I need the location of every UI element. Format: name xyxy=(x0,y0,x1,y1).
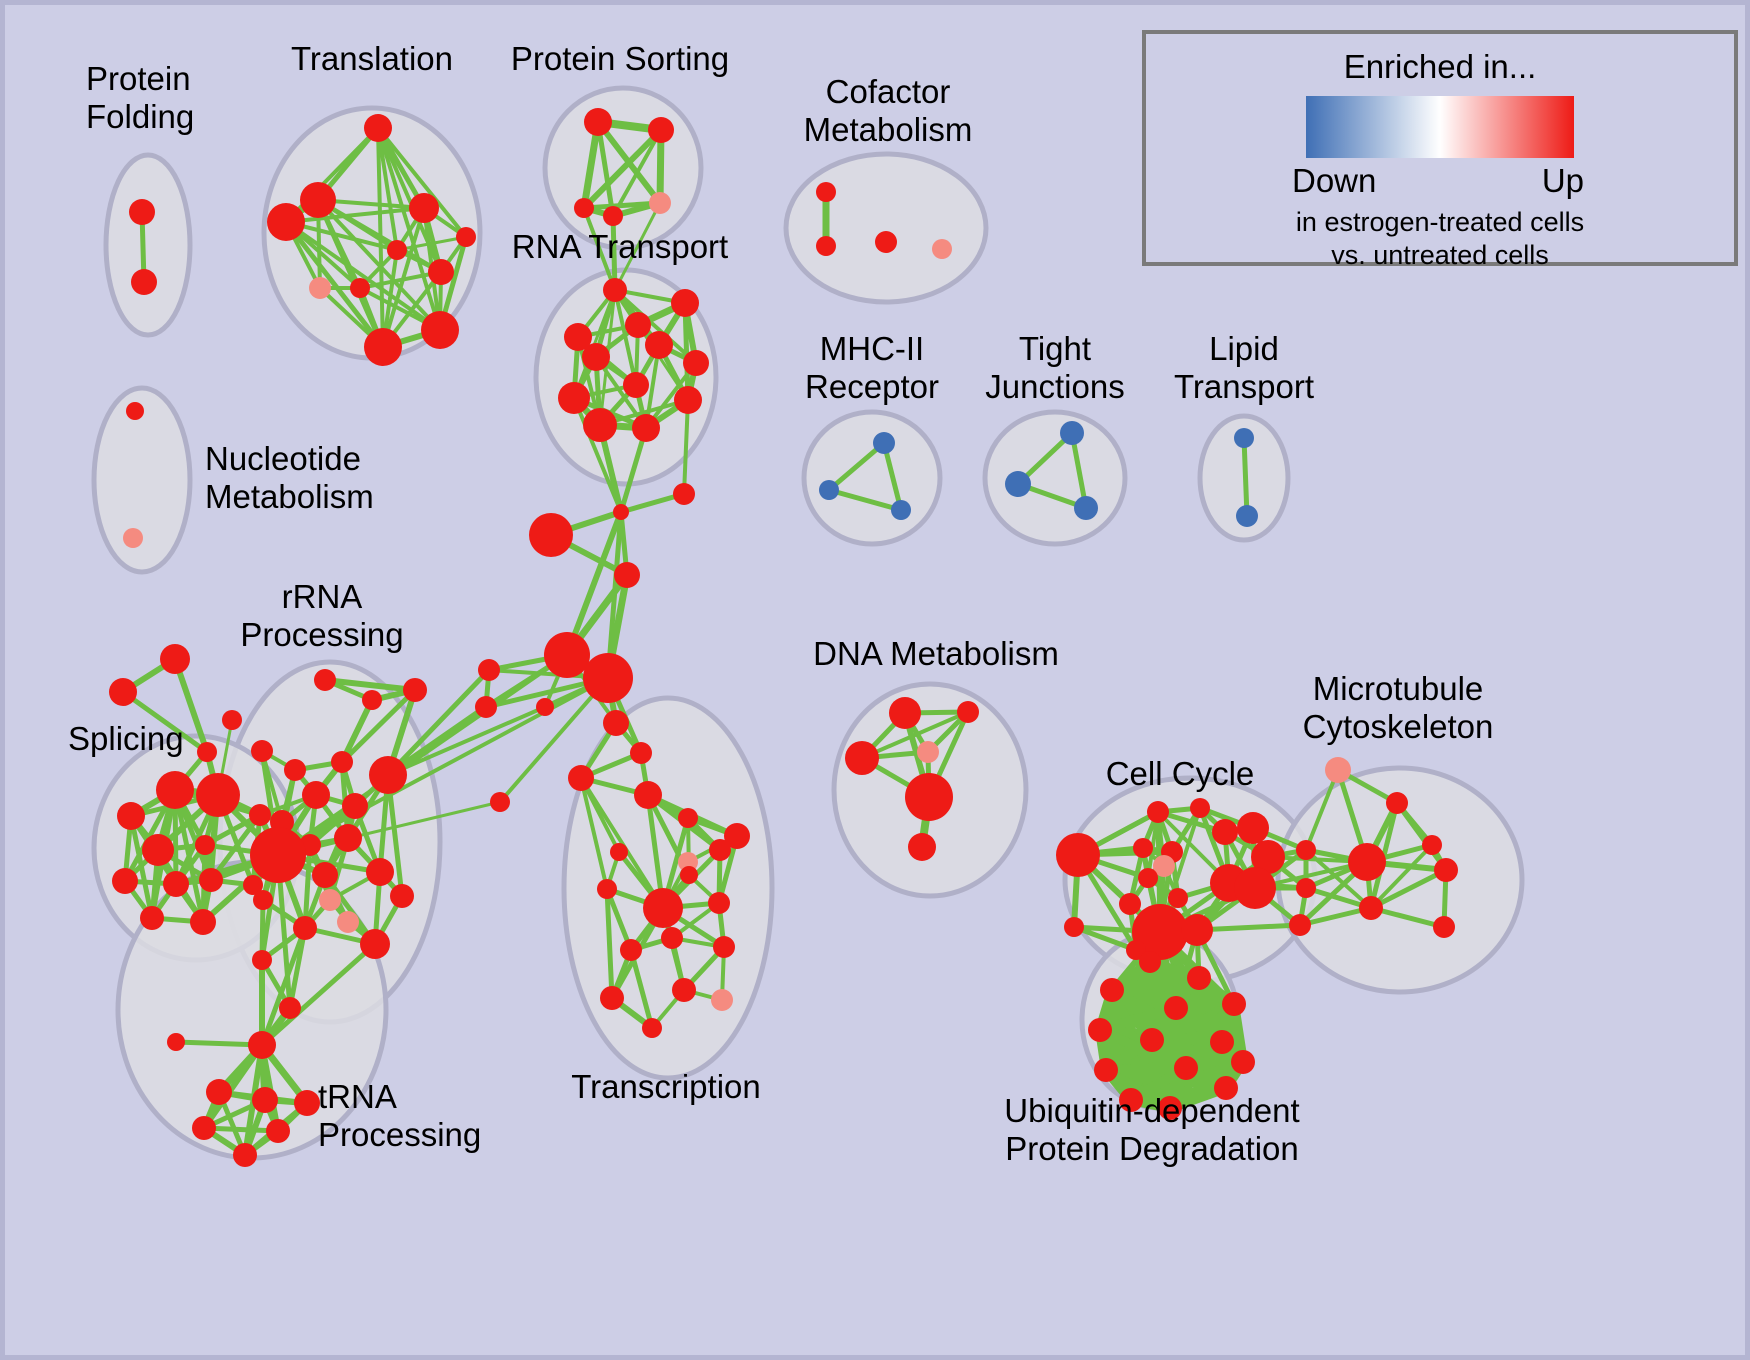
gene-set-node[interactable] xyxy=(129,199,155,225)
gene-set-node[interactable] xyxy=(583,408,617,442)
cluster-label-splicing: Splicing xyxy=(68,720,184,757)
cluster-label-rna-transport: RNA Transport xyxy=(512,228,728,265)
gene-set-node[interactable] xyxy=(558,382,590,414)
gene-set-node[interactable] xyxy=(302,781,330,809)
gene-set-node[interactable] xyxy=(123,528,143,548)
gene-set-node[interactable] xyxy=(632,414,660,442)
gene-set-node[interactable] xyxy=(1433,916,1455,938)
legend-up-label: Up xyxy=(1542,162,1584,200)
gene-set-node[interactable] xyxy=(222,710,242,730)
gene-set-node[interactable] xyxy=(597,879,617,899)
gene-set-node[interactable] xyxy=(490,792,510,812)
legend-down-label: Down xyxy=(1292,162,1376,200)
gene-set-node[interactable] xyxy=(1094,1058,1118,1082)
cluster-label-transcription: Transcription xyxy=(571,1068,761,1105)
gene-set-node[interactable] xyxy=(1138,868,1158,888)
gene-set-node[interactable] xyxy=(661,927,683,949)
gene-set-node[interactable] xyxy=(1147,801,1169,823)
gene-set-node[interactable] xyxy=(195,835,215,855)
gene-set-node[interactable] xyxy=(140,906,164,930)
gene-set-node[interactable] xyxy=(337,911,359,933)
cluster-ellipse-protein-folding xyxy=(106,155,190,335)
gene-set-node[interactable] xyxy=(1296,878,1316,898)
gene-set-node[interactable] xyxy=(603,278,627,302)
gene-set-node[interactable] xyxy=(1296,840,1316,860)
gene-set-node[interactable] xyxy=(1236,505,1258,527)
gene-set-node[interactable] xyxy=(350,278,370,298)
gene-set-node[interactable] xyxy=(390,884,414,908)
gene-set-node[interactable] xyxy=(614,562,640,588)
gene-set-node[interactable] xyxy=(360,929,390,959)
gene-set-node[interactable] xyxy=(674,386,702,414)
gene-set-node[interactable] xyxy=(249,804,271,826)
gene-set-node[interactable] xyxy=(613,504,629,520)
gene-set-node[interactable] xyxy=(199,868,223,892)
gene-set-node[interactable] xyxy=(816,236,836,256)
gene-set-node[interactable] xyxy=(248,1031,276,1059)
gene-set-node[interactable] xyxy=(1234,867,1276,909)
gene-set-node[interactable] xyxy=(875,231,897,253)
cluster-label-ubiquitin-protein-degradation: Ubiquitin-dependentProtein Degradation xyxy=(1004,1092,1299,1167)
gene-set-node[interactable] xyxy=(312,862,338,888)
legend-subtitle-line-2: vs. untreated cells xyxy=(1168,239,1712,272)
gene-set-node[interactable] xyxy=(478,659,500,681)
gene-set-node[interactable] xyxy=(362,690,382,710)
cluster-label-cell-cycle: Cell Cycle xyxy=(1106,755,1255,792)
gene-set-node[interactable] xyxy=(932,239,952,259)
gene-set-node[interactable] xyxy=(620,939,642,961)
gene-set-node[interactable] xyxy=(1133,838,1153,858)
gene-set-node[interactable] xyxy=(1056,833,1100,877)
gene-set-node[interactable] xyxy=(196,773,240,817)
gene-set-node[interactable] xyxy=(192,1116,216,1140)
gene-set-node[interactable] xyxy=(529,513,573,557)
gene-set-node[interactable] xyxy=(126,402,144,420)
cluster-ellipse-mhc-ii-receptor xyxy=(804,412,940,544)
gene-set-node[interactable] xyxy=(711,989,733,1011)
gene-set-node[interactable] xyxy=(364,328,402,366)
gene-set-node[interactable] xyxy=(603,710,629,736)
gene-set-node[interactable] xyxy=(1386,792,1408,814)
gene-set-node[interactable] xyxy=(544,632,590,678)
gene-set-node[interactable] xyxy=(1064,917,1084,937)
gene-set-node[interactable] xyxy=(300,182,336,218)
gene-set-node[interactable] xyxy=(309,277,331,299)
gene-set-node[interactable] xyxy=(584,108,612,136)
cluster-label-protein-folding: ProteinFolding xyxy=(86,60,194,135)
gene-set-node[interactable] xyxy=(197,742,217,762)
edge xyxy=(685,303,688,400)
gene-set-node[interactable] xyxy=(671,289,699,317)
cluster-label-cofactor-metabolism: CofactorMetabolism xyxy=(804,73,973,148)
gene-set-node[interactable] xyxy=(600,986,624,1010)
gene-set-node[interactable] xyxy=(678,808,698,828)
gene-set-node[interactable] xyxy=(364,114,392,142)
gene-set-node[interactable] xyxy=(1190,798,1210,818)
gene-set-node[interactable] xyxy=(873,432,895,454)
gene-set-node[interactable] xyxy=(917,741,939,763)
gene-set-node[interactable] xyxy=(643,888,683,928)
gene-set-node[interactable] xyxy=(1074,496,1098,520)
gene-set-node[interactable] xyxy=(1222,992,1246,1016)
gene-set-node[interactable] xyxy=(673,483,695,505)
gene-set-node[interactable] xyxy=(625,312,651,338)
gene-set-node[interactable] xyxy=(645,331,673,359)
gene-set-node[interactable] xyxy=(891,500,911,520)
gene-set-node[interactable] xyxy=(1237,812,1269,844)
cluster-label-microtubule-cytoskeleton: MicrotubuleCytoskeleton xyxy=(1303,670,1494,745)
gene-set-node[interactable] xyxy=(319,889,341,911)
gene-set-node[interactable] xyxy=(1139,951,1161,973)
gene-set-node[interactable] xyxy=(1422,835,1442,855)
gene-set-node[interactable] xyxy=(293,916,317,940)
gene-set-node[interactable] xyxy=(536,698,554,716)
cluster-ellipse-tight-junctions xyxy=(985,412,1125,544)
gene-set-node[interactable] xyxy=(250,827,306,883)
gene-set-node[interactable] xyxy=(190,909,216,935)
gene-set-node[interactable] xyxy=(156,771,194,809)
legend-subtitle-line-1: in estrogen-treated cells xyxy=(1168,206,1712,239)
cluster-label-nucleotide-metabolism: NucleotideMetabolism xyxy=(205,440,374,515)
gene-set-node[interactable] xyxy=(294,1090,320,1116)
gene-set-node[interactable] xyxy=(1212,819,1238,845)
gene-set-node[interactable] xyxy=(603,206,623,226)
gene-set-node[interactable] xyxy=(342,793,368,819)
gene-set-node[interactable] xyxy=(331,751,353,773)
gene-set-node[interactable] xyxy=(366,858,394,886)
gene-set-node[interactable] xyxy=(163,871,189,897)
edge xyxy=(1244,438,1247,516)
gene-set-node[interactable] xyxy=(266,1119,290,1143)
gene-set-node[interactable] xyxy=(1174,1056,1198,1080)
gene-set-node[interactable] xyxy=(905,773,953,821)
gene-set-node[interactable] xyxy=(253,890,273,910)
gene-set-node[interactable] xyxy=(819,480,839,500)
gene-set-node[interactable] xyxy=(1088,1018,1112,1042)
gene-set-node[interactable] xyxy=(475,696,497,718)
gene-set-node[interactable] xyxy=(112,868,138,894)
gene-set-node[interactable] xyxy=(142,834,174,866)
gene-set-node[interactable] xyxy=(1187,966,1211,990)
gene-set-node[interactable] xyxy=(1119,893,1141,915)
gene-set-node[interactable] xyxy=(267,203,305,241)
gene-set-node[interactable] xyxy=(568,765,594,791)
gene-set-node[interactable] xyxy=(630,742,652,764)
gene-set-node[interactable] xyxy=(724,823,750,849)
gene-set-node[interactable] xyxy=(233,1143,257,1167)
gene-set-node[interactable] xyxy=(1100,978,1124,1002)
gene-set-node[interactable] xyxy=(582,343,610,371)
gene-set-node[interactable] xyxy=(683,350,709,376)
gene-set-node[interactable] xyxy=(109,678,137,706)
gene-set-node[interactable] xyxy=(623,372,649,398)
gene-set-node[interactable] xyxy=(649,192,671,214)
enrichment-map-figure: ProteinFoldingTranslationProtein Sorting… xyxy=(0,0,1750,1360)
gene-set-node[interactable] xyxy=(206,1079,232,1105)
gene-set-node[interactable] xyxy=(642,1018,662,1038)
gene-set-node[interactable] xyxy=(403,678,427,702)
legend-endpoint-labels: Down Up xyxy=(1290,162,1590,206)
gene-set-node[interactable] xyxy=(648,117,674,143)
gene-set-node[interactable] xyxy=(160,644,190,674)
gene-set-node[interactable] xyxy=(387,240,407,260)
gene-set-node[interactable] xyxy=(1289,914,1311,936)
gene-set-node[interactable] xyxy=(428,259,454,285)
gene-set-node[interactable] xyxy=(1181,914,1213,946)
gene-set-node[interactable] xyxy=(680,866,698,884)
gene-set-node[interactable] xyxy=(1005,471,1031,497)
gene-set-node[interactable] xyxy=(252,950,272,970)
cluster-label-protein-sorting: Protein Sorting xyxy=(511,40,729,77)
gene-set-node[interactable] xyxy=(456,227,476,247)
gene-set-node[interactable] xyxy=(167,1033,185,1051)
gene-set-node[interactable] xyxy=(610,843,628,861)
gene-set-node[interactable] xyxy=(1359,896,1383,920)
gene-set-node[interactable] xyxy=(1060,421,1084,445)
gene-set-node[interactable] xyxy=(889,697,921,729)
cluster-label-translation: Translation xyxy=(291,40,453,77)
gene-set-node[interactable] xyxy=(816,182,836,202)
gene-set-node[interactable] xyxy=(957,701,979,723)
gene-set-node[interactable] xyxy=(1164,996,1188,1020)
gene-set-node[interactable] xyxy=(583,653,633,703)
gene-set-node[interactable] xyxy=(409,193,439,223)
cluster-label-mhc-ii-receptor: MHC-IIReceptor xyxy=(805,330,939,405)
gene-set-node[interactable] xyxy=(252,1087,278,1113)
gene-set-node[interactable] xyxy=(672,978,696,1002)
gene-set-node[interactable] xyxy=(251,740,273,762)
gene-set-node[interactable] xyxy=(908,833,936,861)
gene-set-node[interactable] xyxy=(284,759,306,781)
gene-set-node[interactable] xyxy=(1231,1050,1255,1074)
cluster-ellipse-cofactor-metabolism xyxy=(786,154,986,302)
legend-title: Enriched in... xyxy=(1168,48,1712,86)
gene-set-node[interactable] xyxy=(1140,1028,1164,1052)
gene-set-node[interactable] xyxy=(1168,888,1188,908)
gene-set-node[interactable] xyxy=(279,997,301,1019)
gene-set-node[interactable] xyxy=(369,756,407,794)
gene-set-node[interactable] xyxy=(314,669,336,691)
gene-set-node[interactable] xyxy=(708,892,730,914)
gene-set-node[interactable] xyxy=(1234,428,1254,448)
gene-set-node[interactable] xyxy=(1325,757,1351,783)
gene-set-node[interactable] xyxy=(421,311,459,349)
gene-set-node[interactable] xyxy=(131,269,157,295)
gene-set-node[interactable] xyxy=(1210,1030,1234,1054)
gene-set-node[interactable] xyxy=(634,781,662,809)
cluster-label-dna-metabolism: DNA Metabolism xyxy=(813,635,1059,672)
gene-set-node[interactable] xyxy=(713,936,735,958)
legend-panel: Enriched in... Down Up in estrogen-treat… xyxy=(1142,30,1738,266)
gene-set-node[interactable] xyxy=(1348,843,1386,881)
gene-set-node[interactable] xyxy=(574,198,594,218)
legend-color-gradient-bar xyxy=(1306,96,1574,158)
gene-set-node[interactable] xyxy=(334,824,362,852)
gene-set-node[interactable] xyxy=(845,741,879,775)
gene-set-node[interactable] xyxy=(117,802,145,830)
gene-set-node[interactable] xyxy=(1434,858,1458,882)
